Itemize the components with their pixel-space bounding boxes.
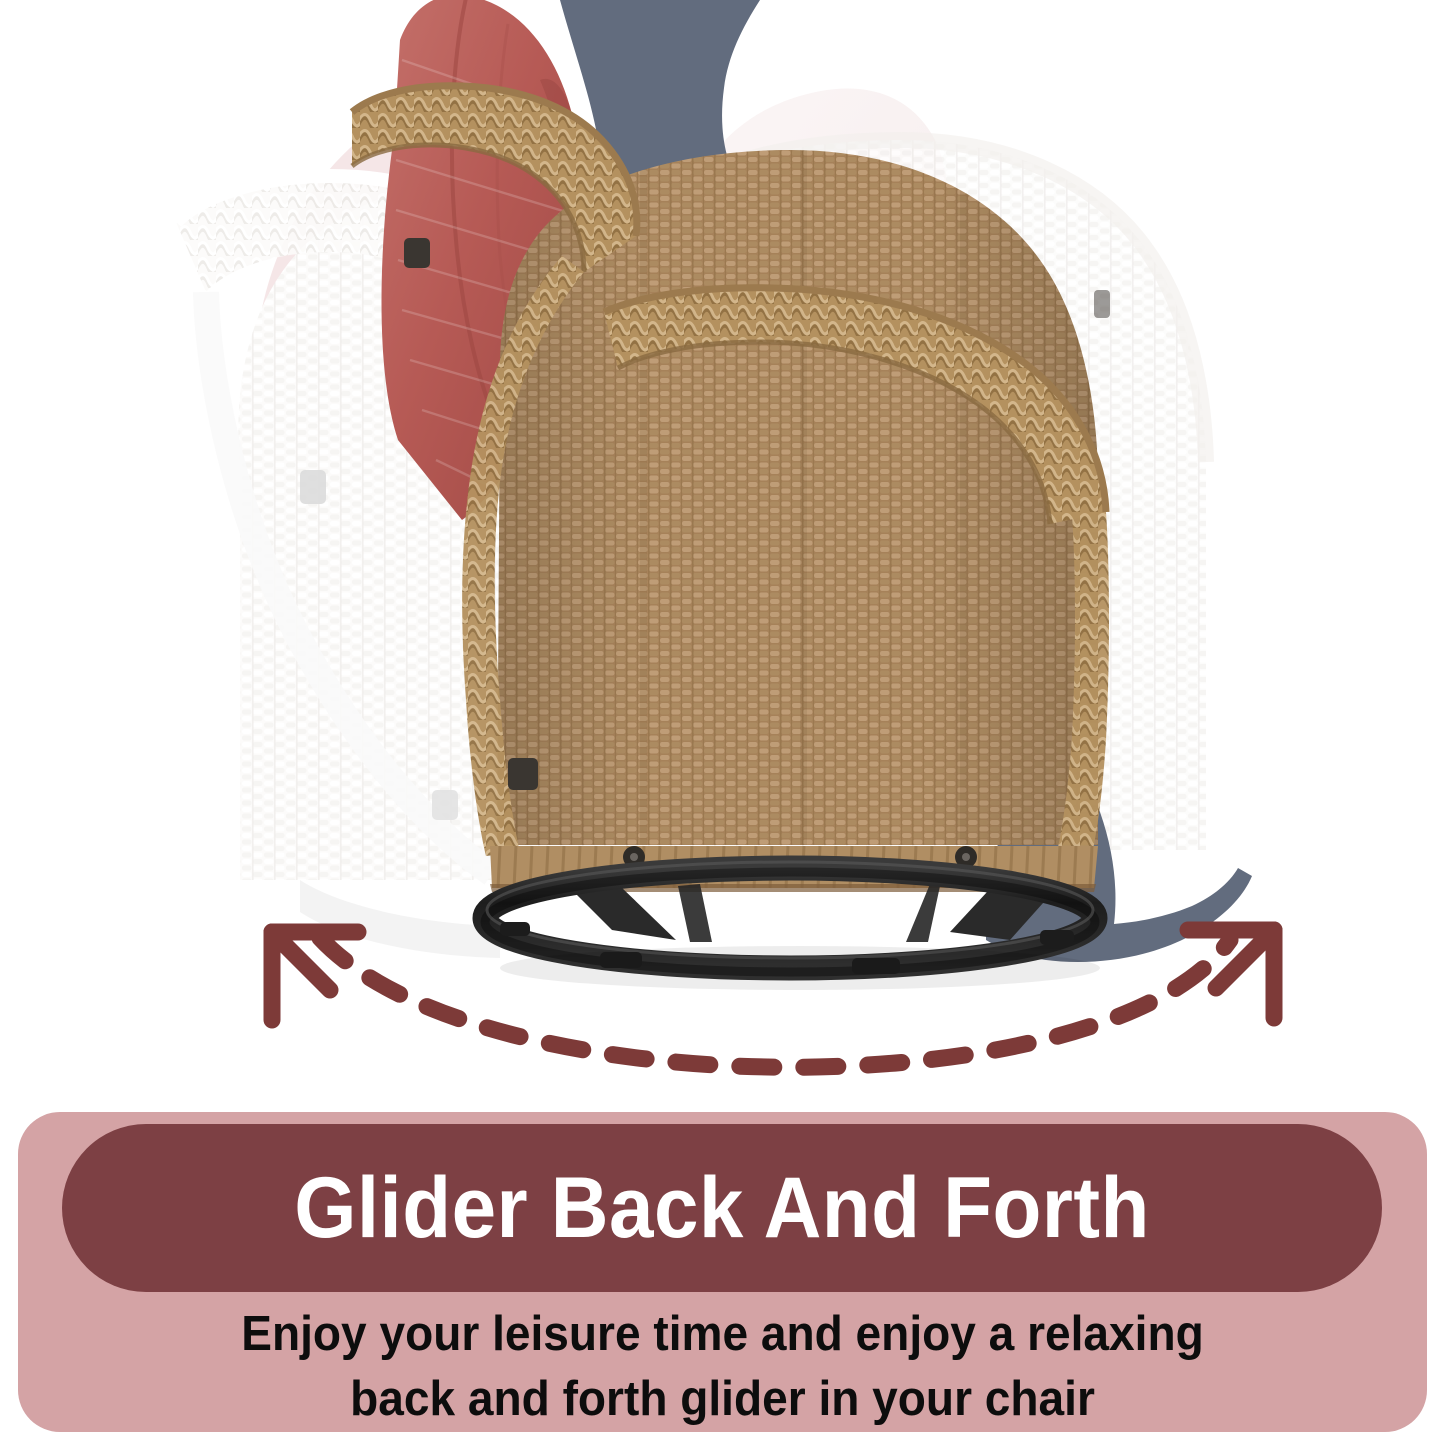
product-feature-image: Glider Back And Forth Enjoy your leisure…	[0, 0, 1445, 1445]
product-photo-stage	[0, 0, 1445, 1110]
subtitle-line-1: Enjoy your leisure time and enjoy a rela…	[60, 1302, 1384, 1367]
chair-body-weave	[480, 140, 1120, 880]
caption-banner: Glider Back And Forth Enjoy your leisure…	[18, 1112, 1427, 1432]
feature-title: Glider Back And Forth	[294, 1165, 1150, 1251]
subtitle-line-2: back and forth glider in your chair	[60, 1367, 1384, 1432]
feature-subtitle: Enjoy your leisure time and enjoy a rela…	[18, 1302, 1427, 1431]
chair-illustration	[0, 0, 1445, 1110]
arrow-left-up-icon	[272, 932, 358, 1020]
title-pill: Glider Back And Forth	[62, 1124, 1382, 1292]
